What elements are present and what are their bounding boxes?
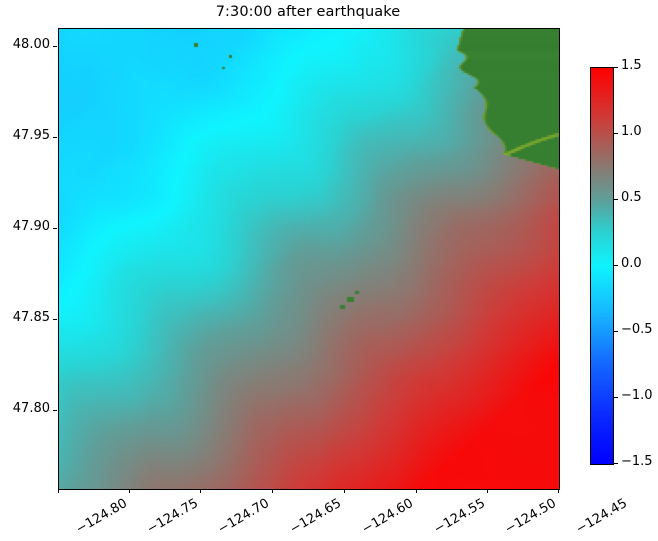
y-tick-mark xyxy=(53,228,57,229)
y-tick-mark xyxy=(53,410,57,411)
y-tick-mark xyxy=(53,319,57,320)
x-tick-label: −124.75 xyxy=(144,496,200,537)
colorbar-tick-mark xyxy=(614,67,618,68)
colorbar-tick-mark xyxy=(614,463,618,464)
x-tick-mark xyxy=(344,489,345,493)
y-tick-label: 47.90 xyxy=(4,219,50,234)
x-tick-mark xyxy=(487,489,488,493)
colorbar-tick-label: 1.5 xyxy=(621,58,642,73)
y-tick-label: 48.00 xyxy=(4,37,50,52)
colorbar-gradient xyxy=(591,68,613,464)
tsunami-heatmap xyxy=(59,29,559,489)
y-tick-label: 47.85 xyxy=(4,310,50,325)
y-tick-label: 47.95 xyxy=(4,128,50,143)
x-tick-mark xyxy=(272,489,273,493)
colorbar-tick-label: 0.0 xyxy=(621,256,642,271)
y-tick-mark xyxy=(53,46,57,47)
x-tick-mark xyxy=(416,489,417,493)
x-tick-label: −124.50 xyxy=(503,496,559,537)
colorbar-tick-mark xyxy=(614,397,618,398)
x-tick-mark xyxy=(129,489,130,493)
colorbar-tick-mark xyxy=(614,331,618,332)
x-tick-mark xyxy=(200,489,201,493)
map-axes[interactable] xyxy=(58,28,560,490)
colorbar-tick-label: −1.0 xyxy=(621,388,653,403)
colorbar-tick-mark xyxy=(614,265,618,266)
colorbar-tick-label: 1.0 xyxy=(621,124,642,139)
y-axis-tick-labels: 48.0047.9547.9047.8547.80 xyxy=(0,0,50,541)
colorbar-tick-label: −1.5 xyxy=(621,454,653,469)
x-tick-label: −124.45 xyxy=(574,496,630,537)
x-tick-label: −124.70 xyxy=(216,496,272,537)
y-tick-label: 47.80 xyxy=(4,401,50,416)
x-tick-mark xyxy=(558,489,559,493)
x-tick-label: −124.60 xyxy=(359,496,415,537)
chart-title: 7:30:00 after earthquake xyxy=(58,4,558,20)
colorbar-tick-mark xyxy=(614,133,618,134)
colorbar-tick-mark xyxy=(614,199,618,200)
x-tick-label: −124.55 xyxy=(431,496,487,537)
x-tick-label: −124.65 xyxy=(288,496,344,537)
y-tick-mark xyxy=(53,137,57,138)
x-tick-label: −124.80 xyxy=(74,496,130,537)
colorbar[interactable] xyxy=(590,67,614,465)
x-tick-mark xyxy=(58,489,59,493)
colorbar-tick-label: 0.5 xyxy=(621,190,642,205)
figure-canvas: 7:30:00 after earthquake 48.0047.9547.90… xyxy=(0,0,658,541)
colorbar-tick-label: −0.5 xyxy=(621,322,653,337)
